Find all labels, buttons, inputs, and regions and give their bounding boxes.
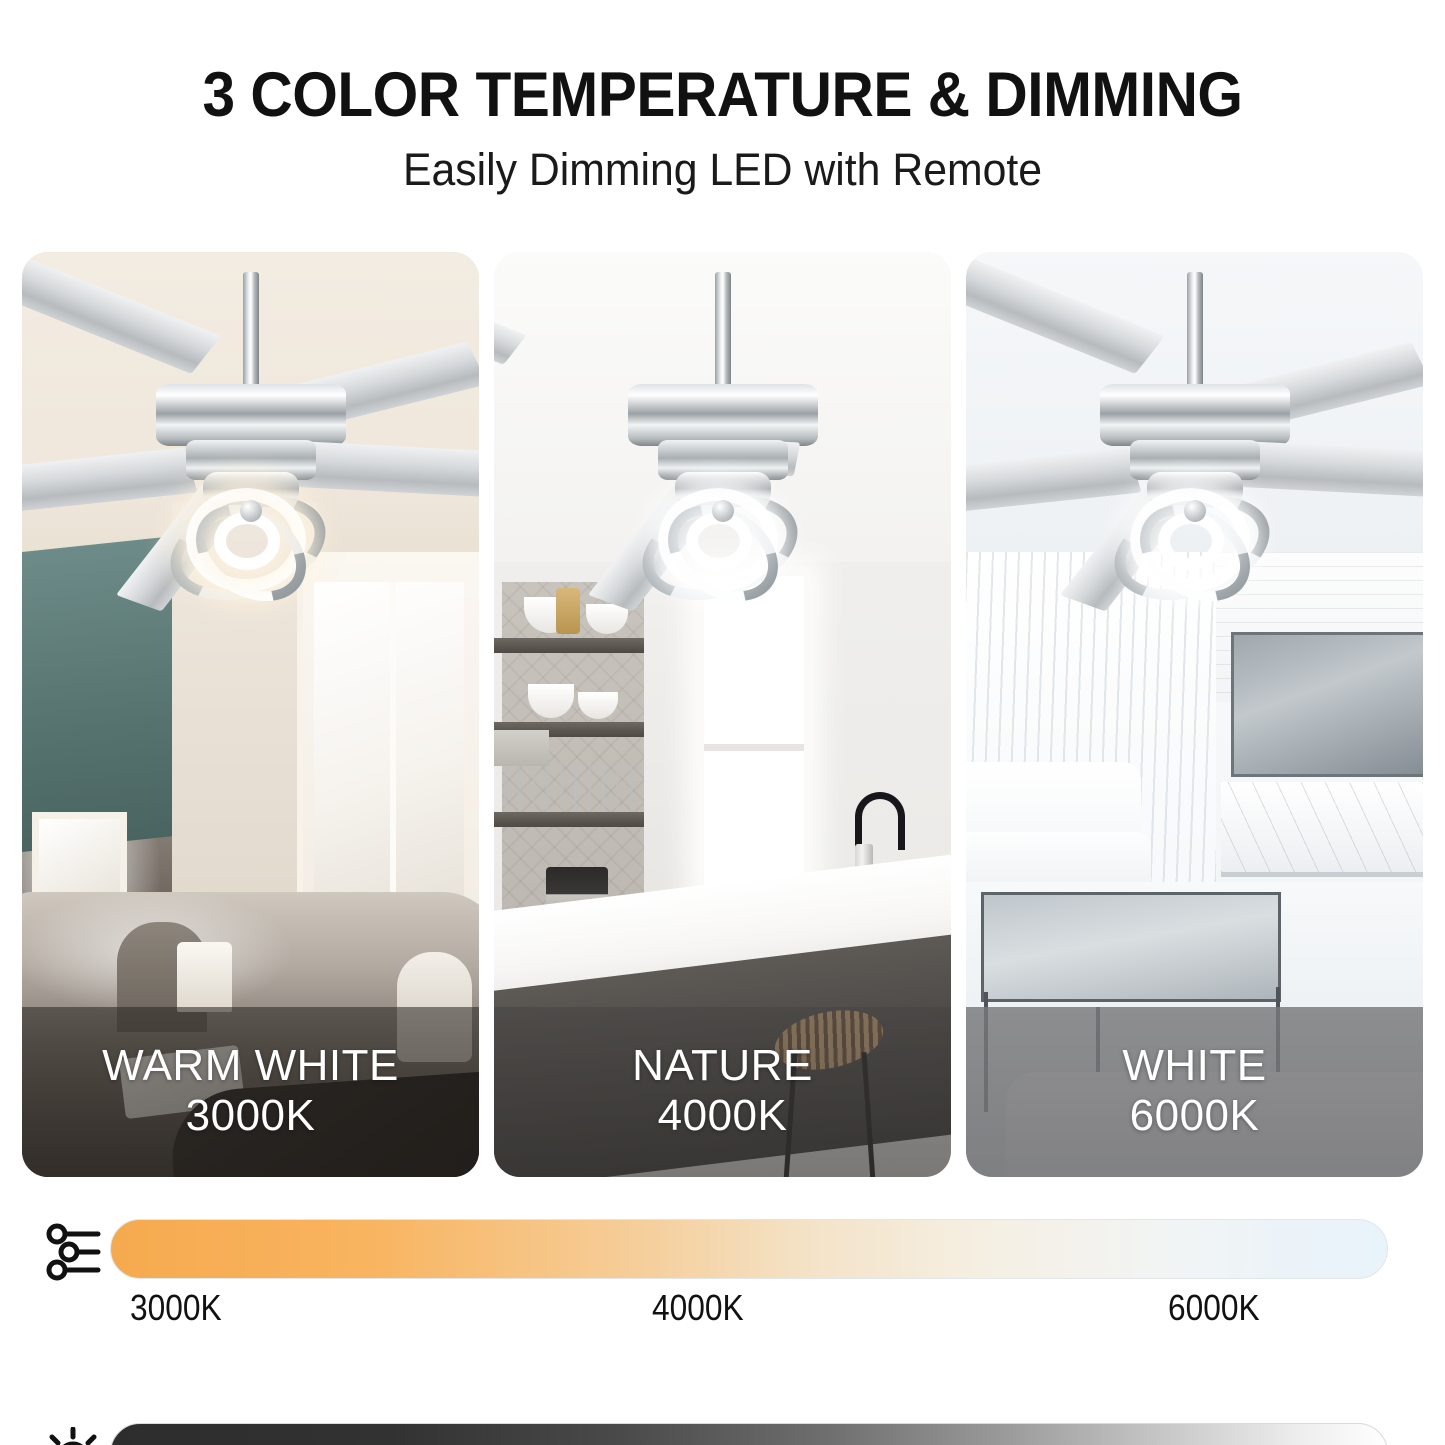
- sliders-icon: [42, 1221, 104, 1283]
- ceiling-fan: [966, 272, 1423, 602]
- scene-panel-warm-white[interactable]: WARM WHITE 3000K: [22, 252, 479, 1177]
- panel-caption-white: WHITE 6000K: [966, 1007, 1423, 1177]
- window-mullion: [390, 582, 396, 927]
- glass-coffee-table: [981, 892, 1281, 1002]
- fan-downrod: [1187, 272, 1203, 390]
- fan-motor-housing: [628, 384, 818, 446]
- page-title: 3 COLOR TEMPERATURE & DIMMING: [51, 62, 1395, 128]
- ceiling-fan: [22, 272, 479, 602]
- panel-caption-nature: NATURE 4000K: [494, 1007, 951, 1177]
- header: 3 COLOR TEMPERATURE & DIMMING Easily Dim…: [0, 62, 1445, 196]
- gradient-bars-section: 3000K 4000K 6000K: [0, 1215, 1445, 1415]
- fan-downrod: [243, 272, 259, 390]
- caption-name: WHITE: [1122, 1042, 1266, 1090]
- faucet-arc: [855, 792, 905, 850]
- table-lamp: [177, 942, 232, 1012]
- dimming-row: Dimming 100%-1%: [0, 1315, 1445, 1415]
- open-shelf: [494, 638, 654, 653]
- caption-kelvin: 6000K: [1130, 1090, 1260, 1142]
- brightness-icon: [42, 1427, 104, 1445]
- page-subtitle: Easily Dimming LED with Remote: [36, 144, 1409, 196]
- hanging-glassware: [504, 762, 644, 812]
- range-hood: [494, 730, 549, 766]
- fan-motor-housing: [1100, 384, 1290, 446]
- scene-panel-row: WARM WHITE 3000K: [22, 252, 1423, 1177]
- fan-blade: [494, 316, 526, 365]
- window-glass: [314, 582, 464, 927]
- caption-kelvin: 3000K: [186, 1090, 316, 1142]
- dimming-gradient-bar[interactable]: [110, 1423, 1388, 1445]
- fan-finial: [712, 500, 734, 522]
- fan-finial: [1184, 500, 1206, 522]
- color-temperature-row: 3000K 4000K 6000K: [0, 1215, 1445, 1315]
- fan-motor-housing: [156, 384, 346, 446]
- panel-caption-warm-white: WARM WHITE 3000K: [22, 1007, 479, 1177]
- window-sash: [704, 744, 804, 751]
- fan-blade: [966, 256, 1164, 374]
- caption-name: WARM WHITE: [102, 1042, 399, 1090]
- fan-blade: [22, 256, 220, 374]
- scene-panel-nature[interactable]: NATURE 4000K: [494, 252, 951, 1177]
- wall-tv: [1231, 632, 1423, 777]
- scene-panel-white[interactable]: WHITE 6000K: [966, 252, 1423, 1177]
- fan-downrod: [715, 272, 731, 390]
- caption-name: NATURE: [632, 1042, 813, 1090]
- open-shelf: [494, 812, 654, 827]
- infographic-page: 3 COLOR TEMPERATURE & DIMMING Easily Dim…: [0, 0, 1445, 1445]
- color-temperature-gradient-bar[interactable]: [110, 1219, 1388, 1279]
- caption-kelvin: 4000K: [658, 1090, 788, 1142]
- ceiling-fan: [494, 272, 951, 602]
- kitchen-window: [698, 570, 810, 915]
- marble-tv-stand: [1221, 782, 1423, 877]
- fan-finial: [240, 500, 262, 522]
